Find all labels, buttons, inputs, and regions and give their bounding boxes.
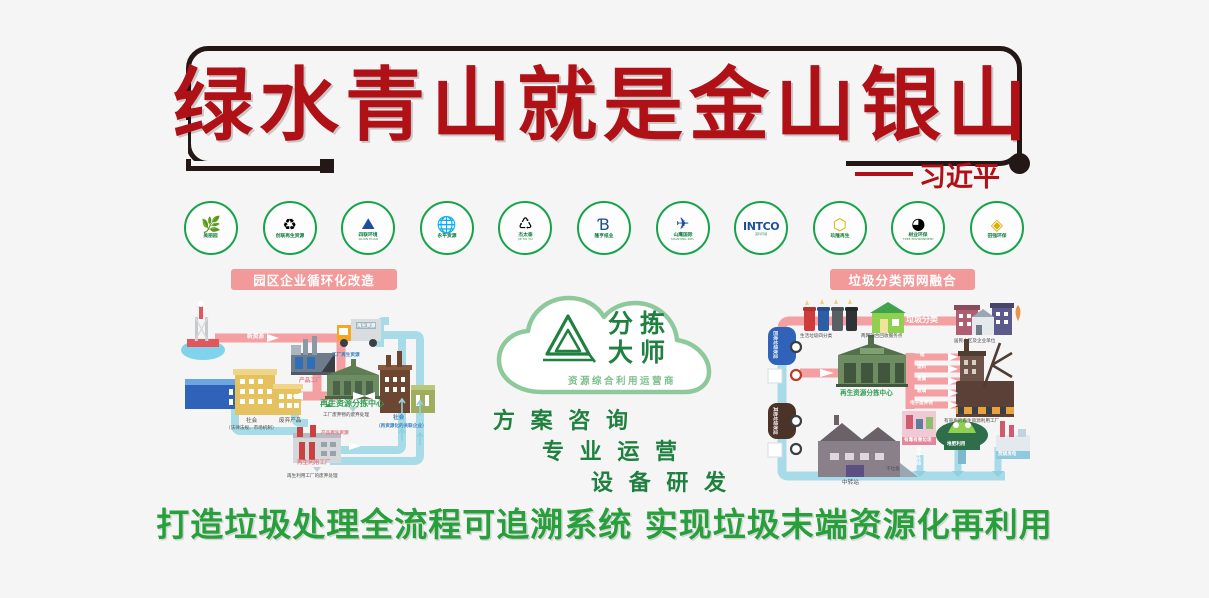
right-label-sorting-title: 垃圾分类 bbox=[906, 315, 938, 324]
left-diagram: 新资源 产品工厂 再生资源 社会 （法律法规、市场机制） 废弃产品 工厂再生资源… bbox=[175, 295, 460, 490]
right-label-kitchen: 厨余垃圾 bbox=[915, 447, 920, 465]
partner-logo-label: 玖隆再生 bbox=[830, 234, 849, 239]
right-label-truck-recycle: 回收垃圾收运 bbox=[772, 331, 777, 359]
partner-logo[interactable]: ✈ 山鹰国际 SHANYING INTL bbox=[656, 201, 710, 255]
left-label-new-resource: 新资源 bbox=[247, 334, 264, 340]
hexagon-icon: ⬡ bbox=[833, 217, 847, 233]
right-label-hazard: 有毒有害垃圾 bbox=[904, 438, 932, 443]
right-label-transfer-station: 中转站 bbox=[842, 480, 859, 486]
partner-logo-label: 创联再生资源 bbox=[275, 234, 304, 239]
partner-logo-sublabel: JIE TAI TAI bbox=[518, 238, 533, 241]
left-label-society: 社会 bbox=[246, 418, 257, 424]
recycle-icon: ♻ bbox=[282, 217, 296, 233]
wave-letter-icon: Ɓ bbox=[598, 217, 610, 233]
brand-slogan-3: 设 备 研 发 bbox=[591, 465, 730, 497]
partner-logo-sublabel: SHANYING INTL bbox=[671, 238, 694, 241]
section-badge-right: 垃圾分类两网融合 bbox=[830, 269, 975, 290]
partner-logo[interactable]: Ɓ 隆亨纸业 bbox=[577, 201, 631, 255]
right-label-incinerate: 焚烧发电 bbox=[998, 452, 1016, 457]
partner-logo-label: 田强环保 bbox=[987, 234, 1006, 239]
right-label-dry-waste: 干垃圾 bbox=[886, 467, 900, 472]
right-label-community: 居民小区及企业单位 bbox=[954, 339, 995, 344]
left-label-waste-product: 废弃产品 bbox=[279, 418, 301, 424]
frame-tail-square-cap bbox=[320, 159, 334, 173]
left-label-product-recycle-resource: 产品再生资源 bbox=[321, 431, 349, 436]
right-label-truck-other: 其他垃圾收运 bbox=[772, 407, 777, 435]
left-label-sorting-center-sub: 工厂废弃物的废弃处理 bbox=[323, 413, 369, 418]
left-label-factory-recycle-resource: 工厂再生资源 bbox=[332, 353, 360, 358]
partner-logo[interactable]: ⛰ 四联环境 SILIAN HUAN bbox=[341, 201, 395, 255]
brand-title-line1: 分拣 bbox=[608, 311, 672, 336]
partner-logo-label: 永平资源 bbox=[437, 234, 456, 239]
right-label-service-point: 两网融合回收服务点 bbox=[861, 334, 902, 339]
attribution: 习近平 bbox=[800, 158, 1000, 190]
globe-icon: 🌐 bbox=[437, 217, 457, 233]
left-label-sorting-center: 再生资源分拣中心 bbox=[320, 399, 384, 408]
partner-logo[interactable]: ♻ 创联再生资源 bbox=[263, 201, 317, 255]
frame-tail-horizontal bbox=[186, 166, 326, 171]
diamond-icon: ◈ bbox=[991, 217, 1003, 233]
frame-dot-cap bbox=[1009, 153, 1030, 174]
brand-subtitle: 资源综合利用运营商 bbox=[537, 373, 707, 387]
right-label-compost: 堆肥利用 bbox=[947, 442, 965, 447]
brand-title-line2: 大师 bbox=[608, 340, 672, 365]
right-label-bins: 生活垃圾四分类 bbox=[800, 334, 832, 339]
leaf-icon: 🌿 bbox=[201, 217, 221, 233]
partner-logo-strip: 🌿 美丽园 ♻ 创联再生资源 ⛰ 四联环境 SILIAN HUAN 🌐 永平资源… bbox=[184, 199, 1024, 257]
left-label-product-factory: 产品工厂 bbox=[299, 378, 321, 384]
partner-logo-label: 山鹰国际 bbox=[673, 233, 692, 238]
partner-logo[interactable]: ⬡ 玖隆再生 bbox=[813, 201, 867, 255]
partner-logo[interactable]: 🌿 美丽园 bbox=[184, 201, 238, 255]
cloud-logo-row: 分拣 大师 bbox=[537, 310, 707, 366]
cloud-content: 分拣 大师 资源综合利用运营商 bbox=[537, 314, 707, 382]
recycle-arrows-icon: ♺ bbox=[518, 216, 532, 232]
right-category-glass: 玻璃 bbox=[917, 389, 926, 394]
mountain-icon: ⛰ bbox=[361, 216, 374, 232]
partner-logo-label: 树业环保 bbox=[909, 233, 928, 238]
left-label-reuse-factory-sub: 再生利用工厂的废弃处理 bbox=[287, 474, 338, 479]
page-title: 绿水青山就是金山银山 bbox=[208, 58, 998, 154]
right-label-sorting-center: 再生资源分拣中心 bbox=[840, 390, 893, 398]
right-category-ewaste: 电子废弃物 bbox=[910, 401, 933, 406]
partner-logo[interactable]: ◕ 树业环保 TREE ENVIRONMENT bbox=[891, 201, 945, 255]
left-label-society-right: 社会 bbox=[393, 415, 404, 421]
intco-wordmark-icon: INTCO bbox=[743, 221, 779, 232]
partner-logo[interactable]: INTCO 英科环保 bbox=[734, 201, 788, 255]
right-diagram-svg bbox=[760, 295, 1035, 490]
brand-cloud: 分拣 大师 资源综合利用运营商 bbox=[487, 292, 722, 397]
partner-logo-sublabel: TREE ENVIRONMENT bbox=[903, 238, 934, 241]
brand-title-block: 分拣 大师 bbox=[608, 311, 672, 365]
partner-logo-label: 杰太泰 bbox=[518, 233, 532, 238]
partner-logo-label: 美丽园 bbox=[204, 234, 218, 239]
left-label-society-right-sub: （再资源化的关联企业） bbox=[376, 424, 427, 429]
left-label-recycle-truck: 再生资源 bbox=[357, 324, 375, 329]
brand-slogans: 方 案 咨 询 专 业 运 营 设 备 研 发 bbox=[493, 403, 733, 495]
partner-logo[interactable]: ◈ 田强环保 bbox=[970, 201, 1024, 255]
section-badge-left: 园区企业循环化改造 bbox=[231, 269, 397, 290]
right-category-paper: 纸 bbox=[920, 353, 925, 358]
attribution-dash-icon bbox=[855, 172, 913, 176]
footer-slogan: 打造垃圾处理全流程可追溯系统 实现垃圾末端资源化再利用 bbox=[0, 500, 1209, 544]
partner-logo-sublabel: 英科环保 bbox=[755, 233, 767, 236]
partner-logo-sublabel: SILIAN HUAN bbox=[359, 238, 378, 241]
right-category-plastic: 塑料 bbox=[917, 365, 926, 370]
partner-logo-label: 四联环境 bbox=[359, 233, 378, 238]
brand-slogan-2: 专 业 运 营 bbox=[542, 434, 681, 466]
partner-logo[interactable]: 🌐 永平资源 bbox=[420, 201, 474, 255]
partner-logo-label: 隆亨纸业 bbox=[594, 234, 613, 239]
infographic-poster: 绿水青山就是金山银山 习近平 🌿 美丽园 ♻ 创联再生资源 ⛰ 四联环境 SIL… bbox=[0, 0, 1209, 598]
right-diagram: 生活垃圾四分类 两网融合回收服务点 垃圾分类 居民小区及企业单位 回收垃圾收运 … bbox=[760, 295, 1035, 490]
attribution-name: 习近平 bbox=[919, 155, 1000, 194]
brand-slogan-1: 方 案 咨 询 bbox=[493, 403, 632, 435]
left-label-society-sub: （法律法规、市场机制） bbox=[226, 426, 277, 431]
circle-swirl-icon: ◕ bbox=[911, 216, 925, 232]
left-label-reuse-factory: 再生利用工厂 bbox=[297, 460, 331, 466]
right-label-qualified-factory: 有资质的再生资源利用工厂 bbox=[944, 419, 999, 424]
partner-logo[interactable]: ♺ 杰太泰 JIE TAI TAI bbox=[498, 201, 552, 255]
eagle-icon: ✈ bbox=[676, 216, 689, 232]
recycle-triangle-icon bbox=[537, 310, 599, 366]
right-category-metal: 金属 bbox=[917, 377, 926, 382]
